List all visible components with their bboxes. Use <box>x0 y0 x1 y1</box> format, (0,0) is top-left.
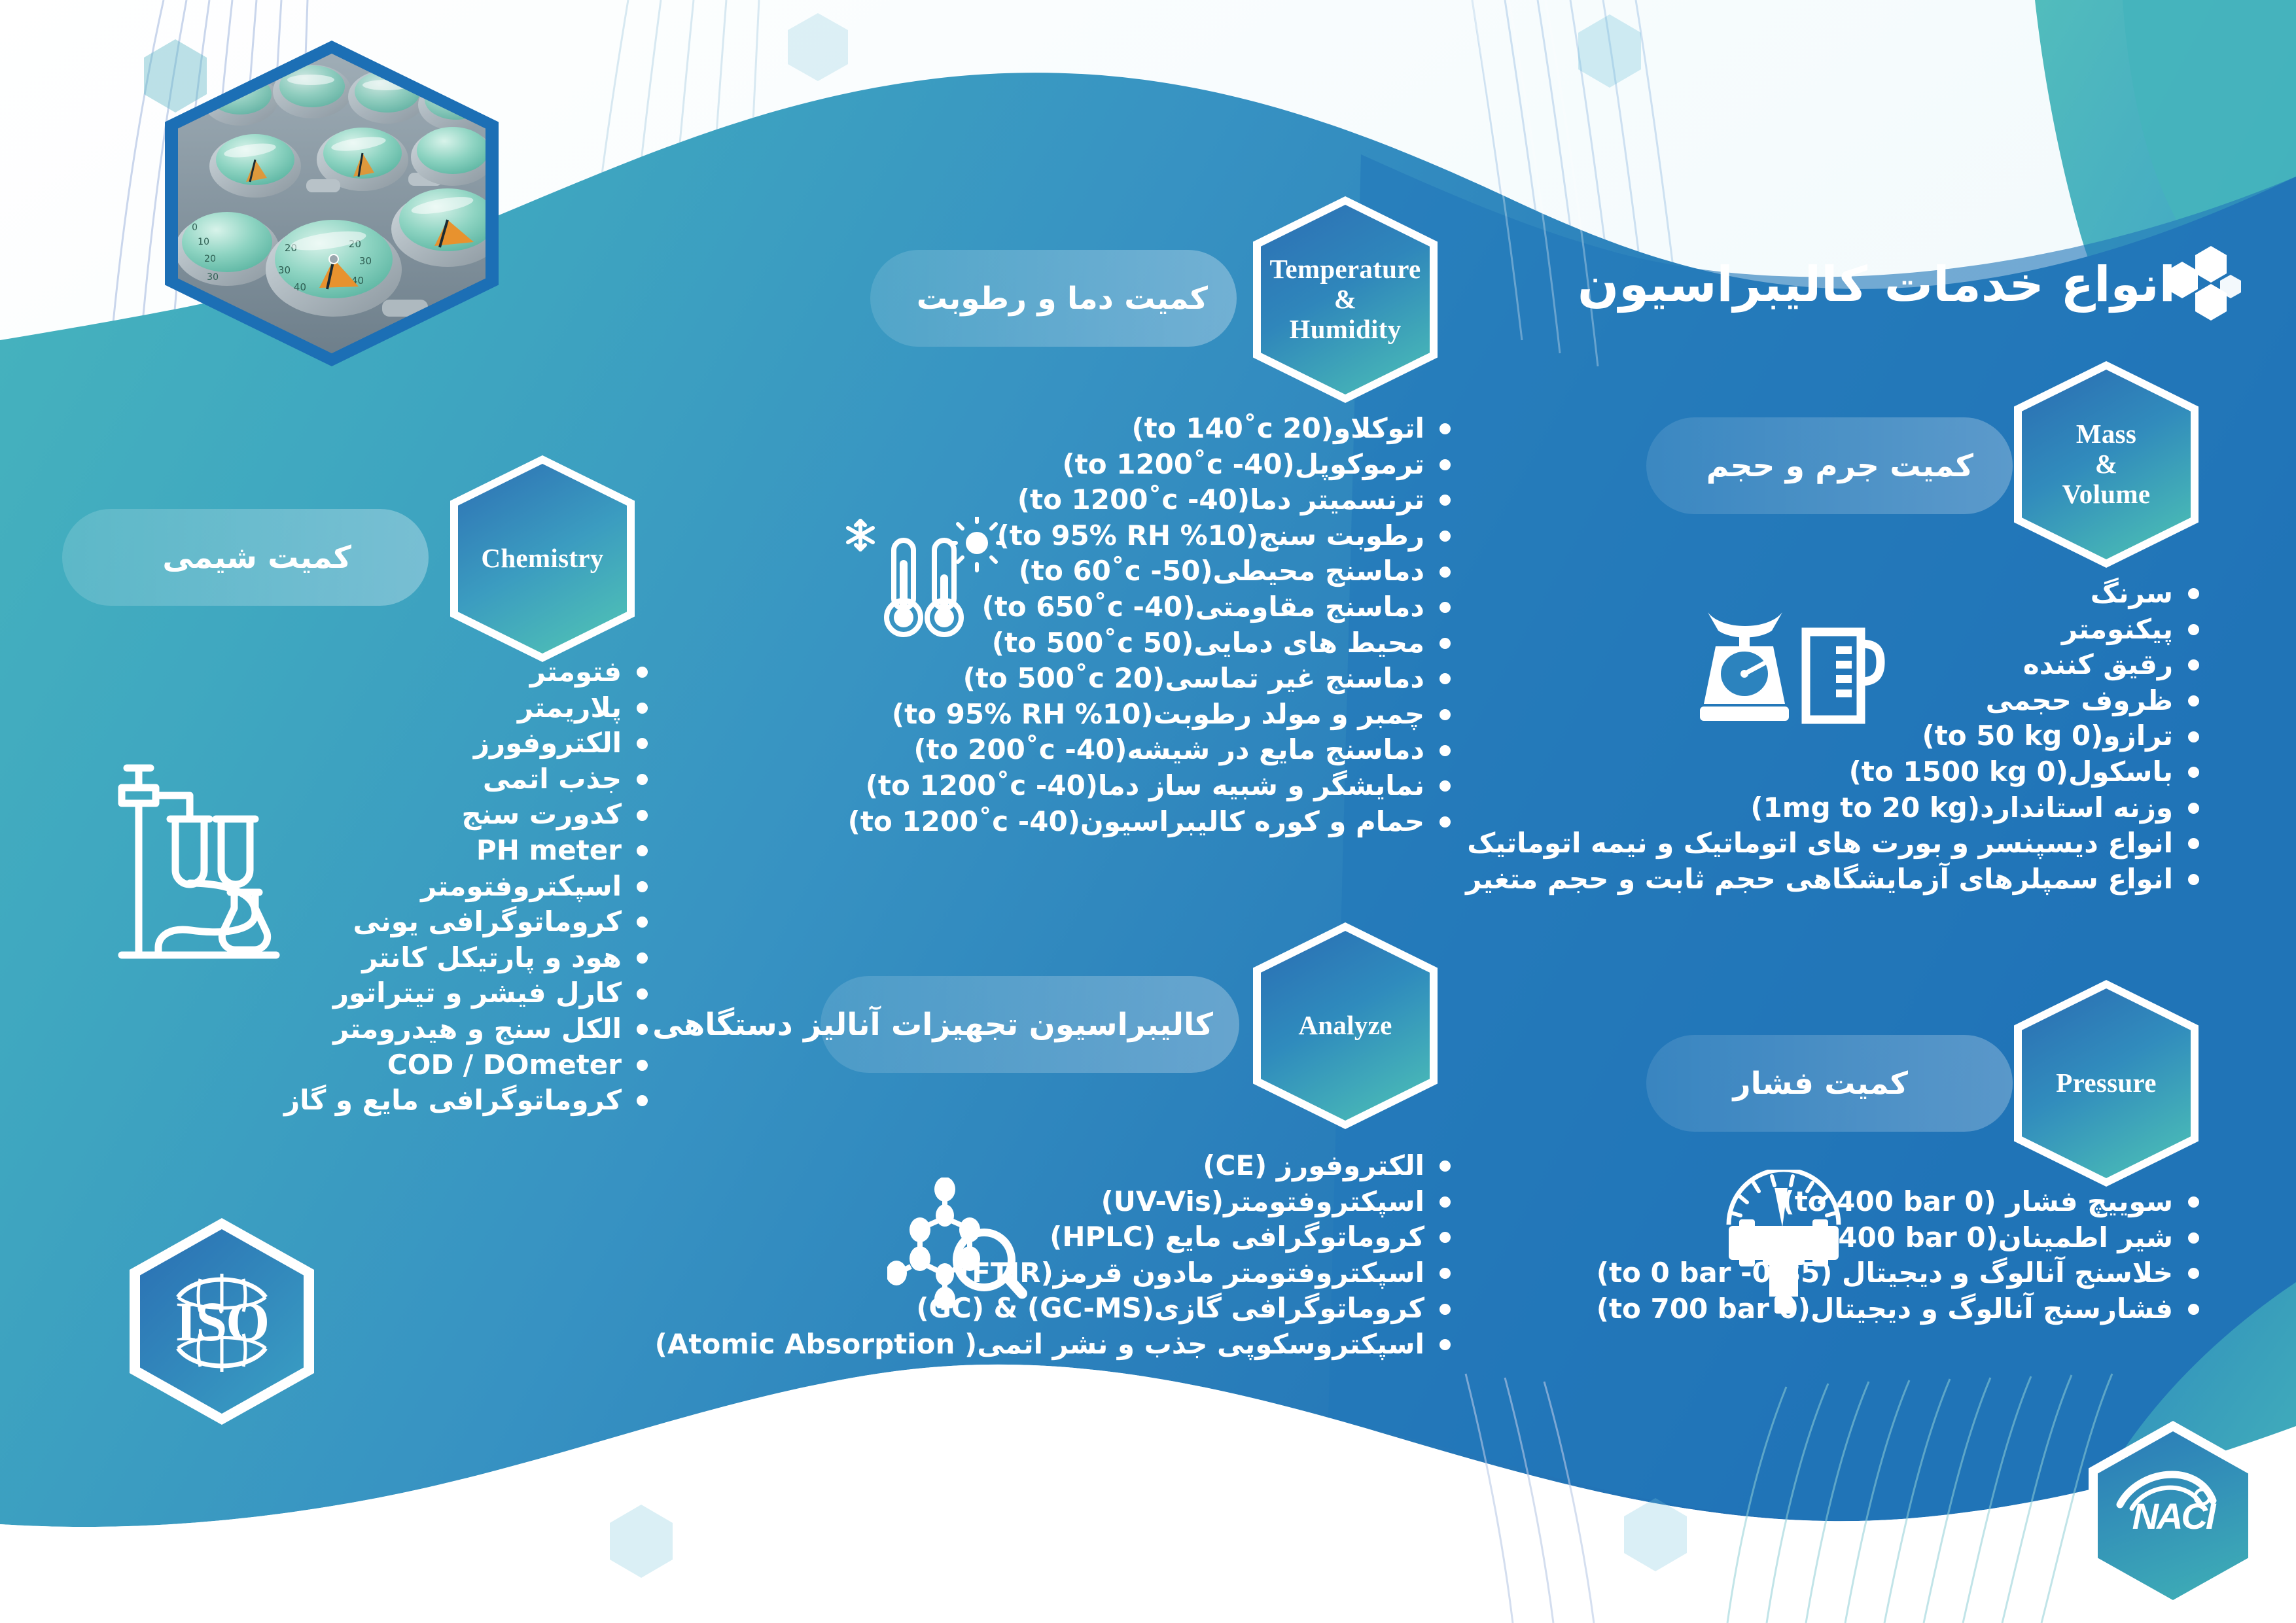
list-item: رقیق کننده <box>1466 647 2203 683</box>
hex-label-line-2: & <box>1334 285 1356 315</box>
list-item: ترنسمیتر دما(40- to 1200˚c) <box>848 482 1455 518</box>
pill-label-chemistry: کمیت شیمی <box>162 540 351 576</box>
list-item: رطوبت سنج(10% to 95% RH) <box>848 518 1455 554</box>
list-item: دماسنج مقاومتی(40- to 650˚c) <box>848 589 1455 625</box>
hex-label-line-1: Temperature <box>1269 254 1421 285</box>
list-item: باسکول(0 to 1500 kg) <box>1466 754 2203 790</box>
svg-text:0: 0 <box>192 222 198 233</box>
hex-label-line-1: Chemistry <box>481 544 603 574</box>
list-item: دماسنج غیر تماسی(20 to 500˚c) <box>848 661 1455 697</box>
pill-label-analyze: کالیبراسیون تجهیزات آنالیز دستگاهی <box>652 1007 1213 1043</box>
list-item: دماسنج مایع در شیشه(40- to 200˚c) <box>848 732 1455 768</box>
list-item: اسپکتروفتومتر <box>284 869 652 905</box>
hex-label-line-2: & <box>2095 449 2117 480</box>
list-item: COD / DOmeter <box>284 1047 652 1083</box>
svg-text:30: 30 <box>359 255 372 267</box>
list-item: انواع دیسپنسر و بورت های اتوماتیک و نیمه… <box>1466 826 2203 862</box>
brochure-canvas: 010 2030 2030 4020 3040 <box>0 0 2296 1623</box>
section-pill-mass-volume: کمیت جرم و حجم <box>1646 417 2013 514</box>
section-pill-temperature-humidity: کمیت دما و رطوبت <box>870 250 1237 347</box>
list-item: کروماتوگرافی یونی <box>284 904 652 940</box>
list-item: جذب اتمی <box>284 761 652 797</box>
naci-logo-text: NACI <box>2132 1495 2214 1537</box>
list-item: کروماتوگرافی گازی(GC-MS) & (GC) <box>655 1291 1455 1327</box>
list-mass-volume: سرنگ پیکنومتر رقیق کننده ظروف حجمی ترازو… <box>1466 576 2203 897</box>
list-item: الکتروفورز (CE) <box>655 1148 1455 1184</box>
list-item: حمام و کوره کالیبراسیون(40- to 1200˚c) <box>848 804 1455 840</box>
list-item: محیط های دمایی(50 to 500˚c) <box>848 625 1455 661</box>
section-pill-analyze: کالیبراسیون تجهیزات آنالیز دستگاهی <box>821 976 1239 1073</box>
pill-label-pressure: کمیت فشار <box>1733 1066 1908 1102</box>
list-item: شیر اطمینان(0 to 400 bar) <box>1597 1220 2203 1256</box>
list-item: اسپکتروسکوپی جذب و نشر اتمی( Atomic Abso… <box>655 1327 1455 1363</box>
list-item: دماسنج محیطی(50- to 60˚c) <box>848 553 1455 589</box>
svg-text:30: 30 <box>207 272 219 283</box>
list-analyze: الکتروفورز (CE) اسپکتروفتومتر(UV-Vis) کر… <box>655 1148 1455 1363</box>
iso-logo-text: ISO <box>175 1289 268 1354</box>
hex-label-line-3: Volume <box>2062 480 2151 510</box>
list-item: کروماتوگرافی مایع (HPLC) <box>655 1219 1455 1255</box>
list-item: وزنه استاندارد(1mg to 20 kg) <box>1466 790 2203 826</box>
svg-text:20: 20 <box>204 254 216 264</box>
list-item: کدورت سنج <box>284 797 652 833</box>
list-item: ترازو(0 to 50 kg) <box>1466 718 2203 754</box>
hex-label-line-1: Mass <box>2076 419 2136 449</box>
list-item: پلاریمتر <box>284 690 652 726</box>
list-item: الکتروفورز <box>284 725 652 761</box>
list-item: نمایشگر و شبیه ساز دما(40- to 1200˚c) <box>848 768 1455 804</box>
list-item: کارل فیشر و تیتراتور <box>284 975 652 1011</box>
list-item: پیکنومتر <box>1466 612 2203 648</box>
list-item: اسپکتروفتومتر مادون قرمز(FTIR) <box>655 1255 1455 1291</box>
list-item: هود و پارتیکل کانتر <box>284 940 652 976</box>
list-item: فتومتر <box>284 654 652 690</box>
lab-apparatus-icon <box>113 759 289 968</box>
list-item: سوییچ فشار (0 to 400 bar) <box>1597 1184 2203 1220</box>
svg-text:40: 40 <box>294 281 306 293</box>
svg-text:10: 10 <box>198 237 209 247</box>
list-item: PH meter <box>284 833 652 869</box>
pill-label-mass-volume: کمیت جرم و حجم <box>1706 448 1973 484</box>
list-temperature-humidity: اتوکلاو(20 to 140˚c) ترموکوپل(40- to 120… <box>848 411 1455 839</box>
list-item: سرنگ <box>1466 576 2203 612</box>
list-item: اتوکلاو(20 to 140˚c) <box>848 411 1455 447</box>
list-item: الکل سنج و هیدرومتر <box>284 1011 652 1047</box>
list-item: خلاسنج آنالوگ و دیجیتال (0.85- to 0 bar) <box>1597 1255 2203 1291</box>
list-item: انواع سمپلرهای آزمایشگاهی حجم ثابت و حجم… <box>1466 862 2203 898</box>
list-item: ترموکوپل(40- to 1200˚c) <box>848 447 1455 483</box>
list-pressure: سوییچ فشار (0 to 400 bar) شیر اطمینان(0 … <box>1597 1184 2203 1327</box>
hex-label-line-3: Humidity <box>1290 315 1402 345</box>
hex-label-line-1: Pressure <box>2056 1068 2156 1098</box>
svg-text:30: 30 <box>278 264 291 276</box>
hex-label-line-1: Analyze <box>1298 1011 1392 1041</box>
section-pill-pressure: کمیت فشار <box>1646 1035 2013 1132</box>
list-chemistry: فتومتر پلاریمتر الکتروفورز جذب اتمی کدور… <box>284 654 652 1119</box>
honeycomb-icon <box>2163 243 2241 328</box>
list-item: اسپکتروفتومتر(UV-Vis) <box>655 1184 1455 1220</box>
section-pill-chemistry: کمیت شیمی <box>62 509 429 606</box>
list-item: کروماتوگرافی مایع و گاز <box>284 1083 652 1119</box>
pill-label-temperature-humidity: کمیت دما و رطوبت <box>917 281 1208 317</box>
list-item: فشارسنج آنالوگ و دیجیتال(0 to 700 bar) <box>1597 1291 2203 1327</box>
list-item: ظروف حجمی <box>1466 683 2203 719</box>
page-title: انواع خدمات کالیبراسیون <box>1578 256 2176 313</box>
list-item: چمبر و مولد رطوبت(10% to 95% RH) <box>848 697 1455 733</box>
